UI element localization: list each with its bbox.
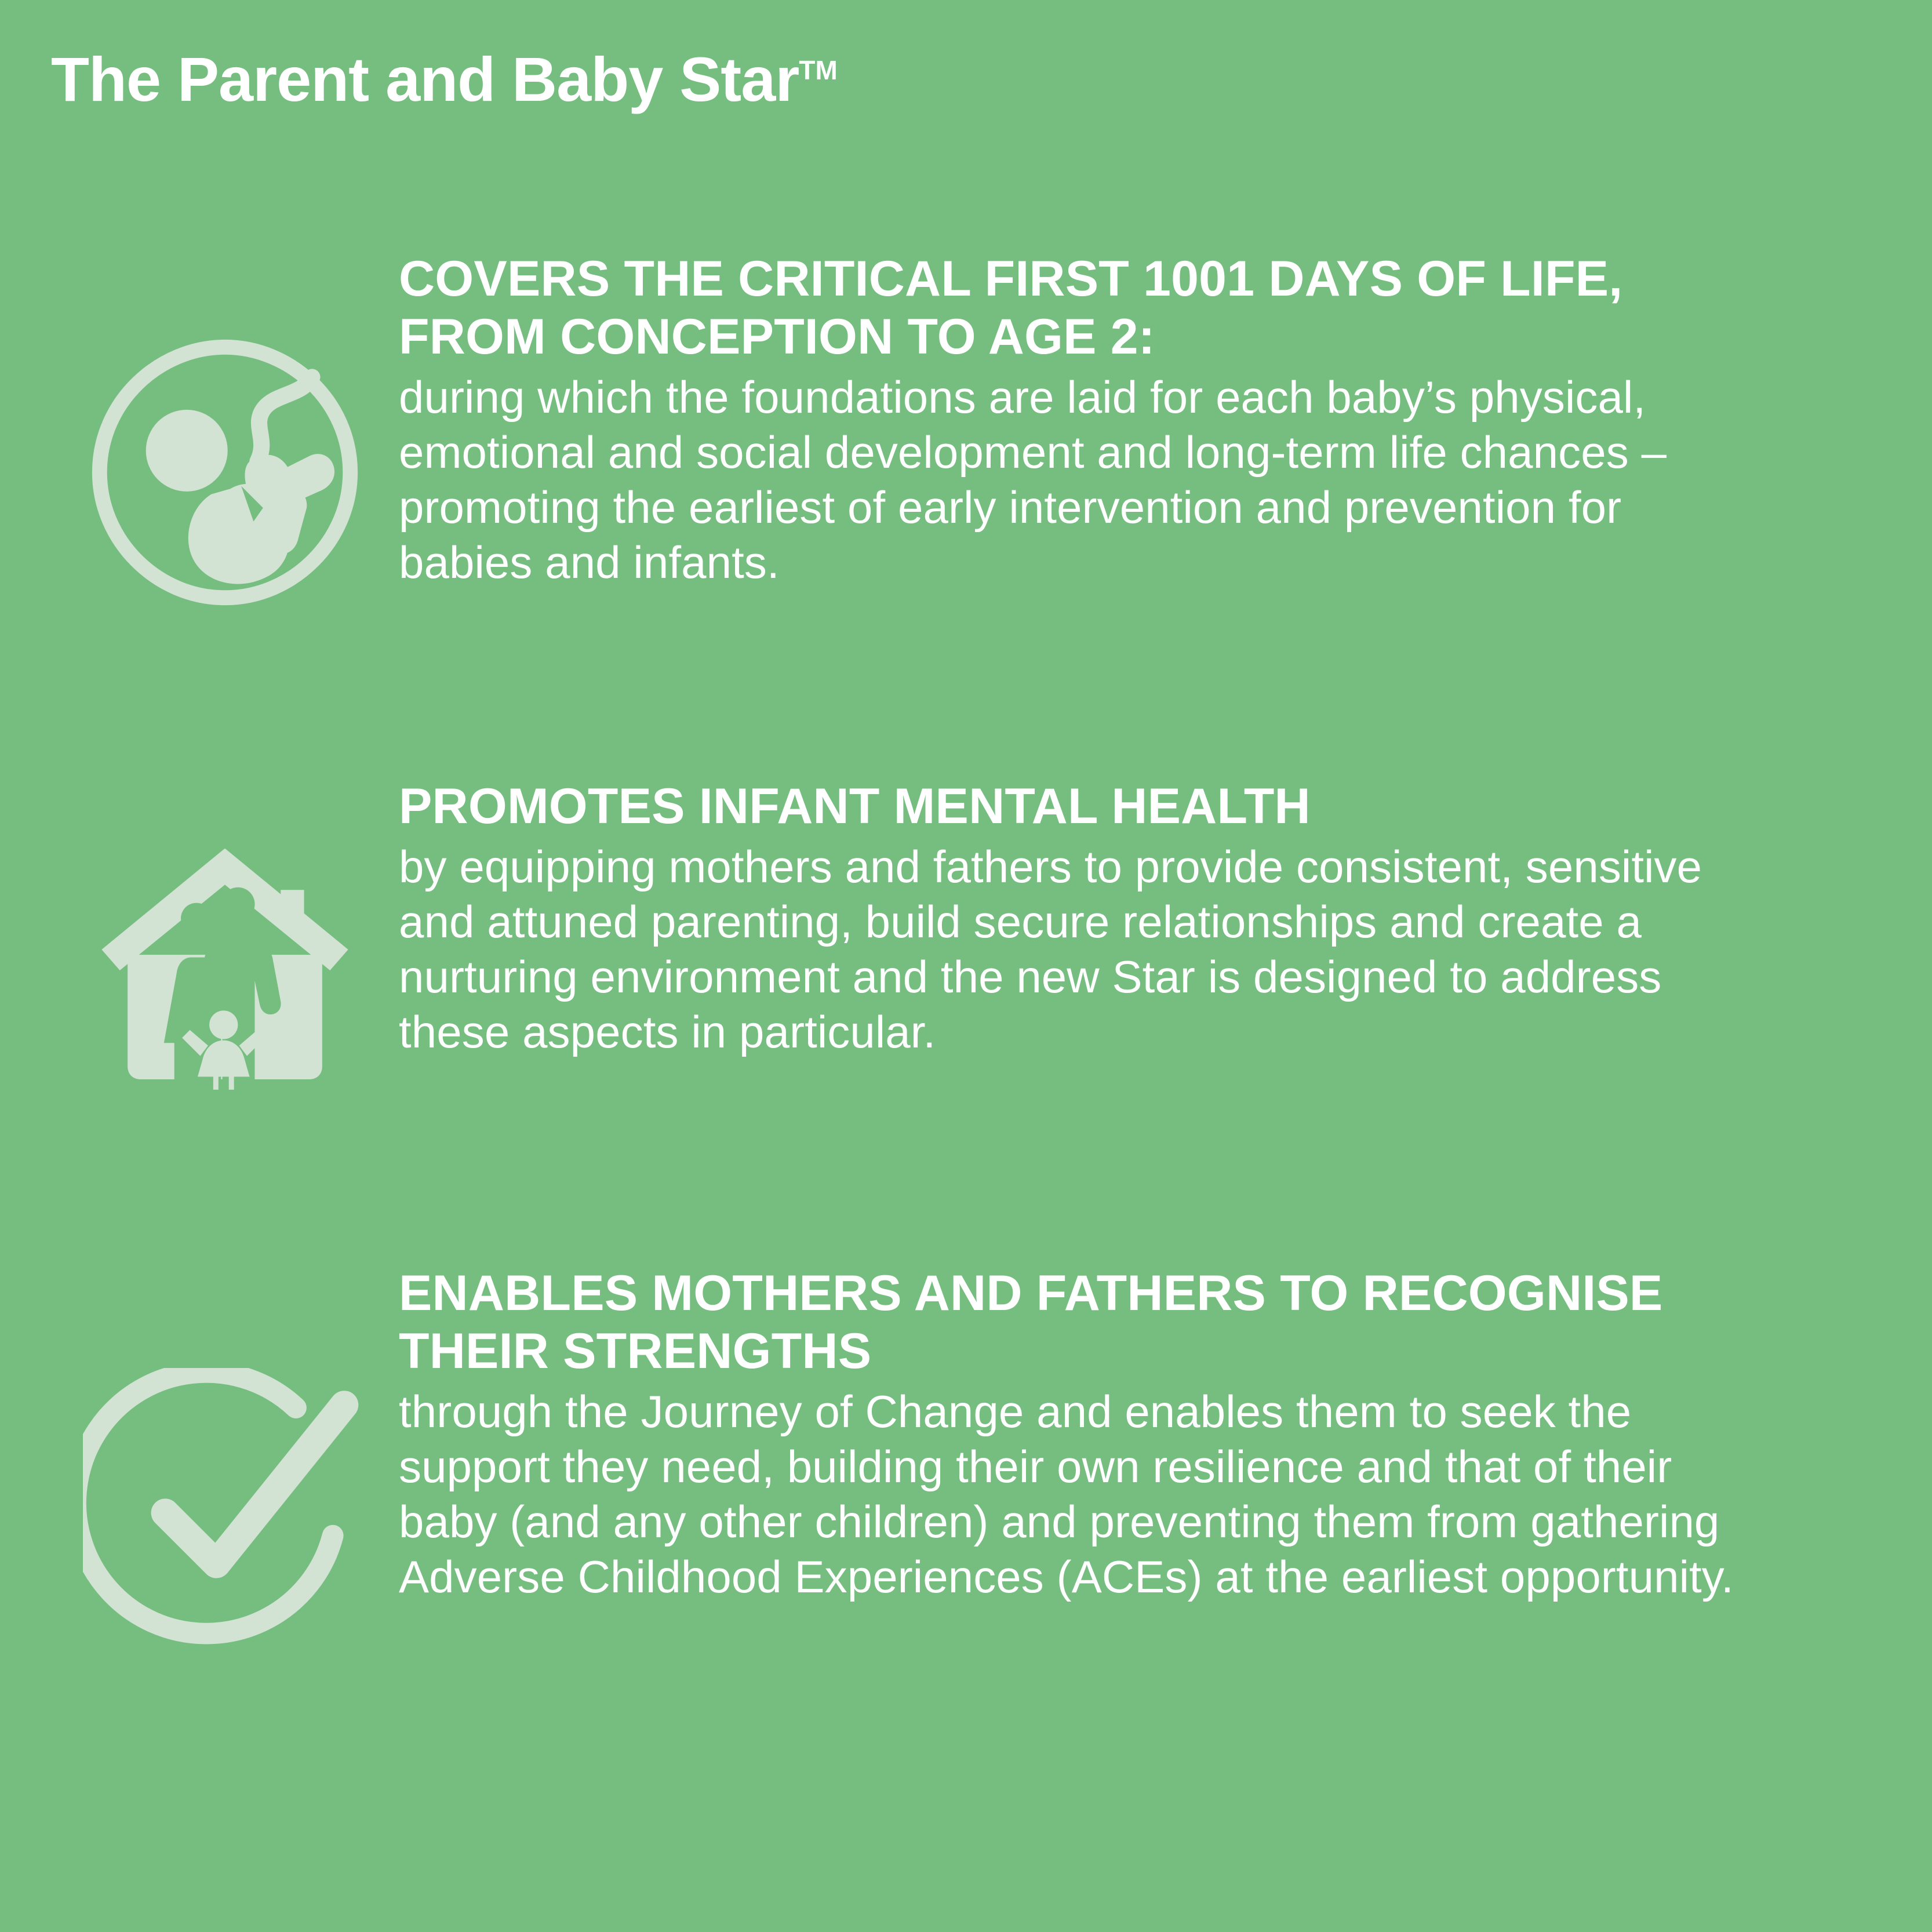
infographic-page: The Parent and Baby StarTM — [0, 0, 1932, 1932]
feature-block-2-icon-cell — [51, 777, 399, 1096]
trademark-symbol: TM — [799, 55, 837, 85]
feature-block-3-text-cell: ENABLES MOTHERS AND FATHERS TO RECOGNISE… — [399, 1264, 1744, 1604]
feature-block-1-heading: COVERS THE CRITICAL FIRST 1001 DAYS OF L… — [399, 250, 1744, 366]
fetus-in-womb-icon — [89, 336, 361, 609]
feature-block-2-text-cell: PROMOTES INFANT MENTAL HEALTH by equippi… — [399, 777, 1744, 1060]
feature-block-1-body: during which the foundations are laid fo… — [399, 370, 1744, 591]
feature-block-3: ENABLES MOTHERS AND FATHERS TO RECOGNISE… — [51, 1264, 1744, 1652]
page-title-text: The Parent and Baby Star — [51, 44, 799, 114]
feature-block-1-icon-cell — [51, 249, 399, 609]
feature-block-3-icon-cell — [51, 1264, 399, 1652]
check-in-circle-icon — [83, 1368, 367, 1652]
feature-block-2: PROMOTES INFANT MENTAL HEALTH by equippi… — [51, 777, 1744, 1096]
house-with-family-icon — [89, 835, 361, 1096]
feature-block-1: COVERS THE CRITICAL FIRST 1001 DAYS OF L… — [51, 249, 1744, 609]
feature-block-2-body: by equipping mothers and fathers to prov… — [399, 839, 1744, 1060]
feature-block-2-heading: PROMOTES INFANT MENTAL HEALTH — [399, 778, 1744, 836]
page-title: The Parent and Baby StarTM — [51, 45, 838, 114]
feature-block-3-heading: ENABLES MOTHERS AND FATHERS TO RECOGNISE… — [399, 1265, 1744, 1381]
feature-block-1-text-cell: COVERS THE CRITICAL FIRST 1001 DAYS OF L… — [399, 249, 1744, 590]
feature-block-3-body: through the Journey of Change and enable… — [399, 1384, 1744, 1605]
